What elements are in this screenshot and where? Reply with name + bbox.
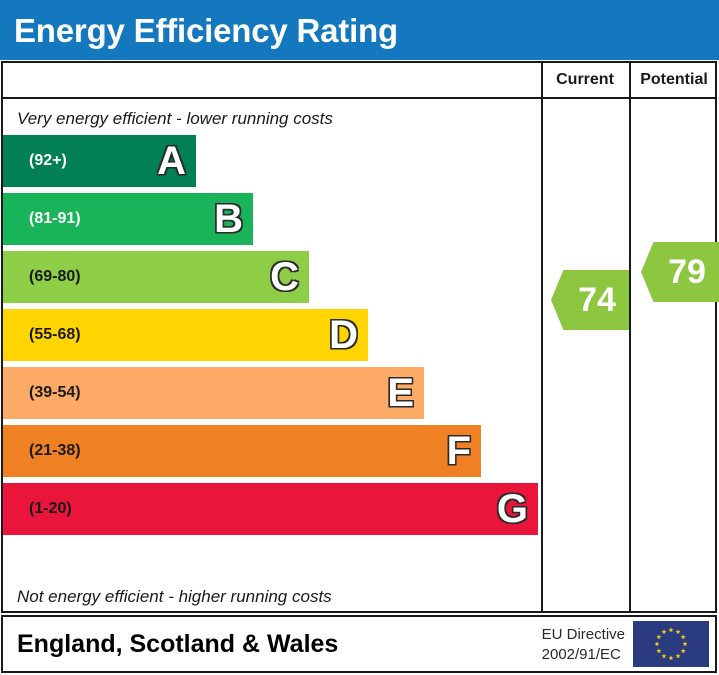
footer-region-label: England, Scotland & Wales — [3, 630, 338, 659]
rating-band-e: (39-54)E — [3, 367, 424, 419]
column-header-row: Current Potential — [3, 63, 715, 99]
current-rating-marker: 74 — [551, 270, 629, 330]
band-range-label: (39-54) — [29, 385, 81, 401]
column-divider-current — [541, 63, 543, 611]
band-range-label: (92+) — [29, 153, 67, 169]
rating-band-f: (21-38)F — [3, 425, 481, 477]
rating-bands: (92+)A(81-91)B(69-80)C(55-68)D(39-54)E(2… — [3, 135, 541, 541]
column-header-current: Current — [541, 63, 629, 97]
band-range-label: (55-68) — [29, 327, 81, 343]
page-title: Energy Efficiency Rating — [0, 14, 398, 47]
rating-band-row: (69-80)C — [3, 251, 541, 309]
band-letter-label: G — [497, 489, 528, 529]
rating-band-row: (39-54)E — [3, 367, 541, 425]
rating-band-d: (55-68)D — [3, 309, 368, 361]
potential-rating-value: 79 — [668, 253, 706, 292]
caption-not-efficient: Not energy efficient - higher running co… — [17, 587, 332, 607]
band-letter-label: C — [270, 257, 299, 297]
band-letter-label: A — [157, 141, 186, 181]
energy-efficiency-certificate: Energy Efficiency Rating Current Potenti… — [0, 0, 719, 675]
band-range-label: (81-91) — [29, 211, 81, 227]
band-letter-label: E — [387, 373, 414, 413]
rating-band-c: (69-80)C — [3, 251, 309, 303]
rating-band-a: (92+)A — [3, 135, 196, 187]
rating-band-b: (81-91)B — [3, 193, 253, 245]
eu-directive-line-1: EU Directive — [542, 625, 625, 645]
eu-directive-text: EU Directive 2002/91/EC — [542, 625, 625, 666]
band-letter-label: F — [447, 431, 471, 471]
chart-footer: England, Scotland & Wales EU Directive 2… — [1, 615, 717, 673]
column-header-potential: Potential — [631, 63, 717, 97]
rating-band-row: (92+)A — [3, 135, 541, 193]
rating-band-row: (55-68)D — [3, 309, 541, 367]
potential-rating-marker: 79 — [641, 242, 719, 302]
current-rating-value: 74 — [578, 281, 616, 320]
band-range-label: (1-20) — [29, 501, 72, 517]
rating-band-row: (21-38)F — [3, 425, 541, 483]
band-range-label: (69-80) — [29, 269, 81, 285]
rating-band-row: (81-91)B — [3, 193, 541, 251]
band-letter-label: B — [214, 199, 243, 239]
band-range-label: (21-38) — [29, 443, 81, 459]
chart-header: Energy Efficiency Rating — [0, 0, 719, 60]
caption-very-efficient: Very energy efficient - lower running co… — [17, 109, 333, 129]
rating-band-row: (1-20)G — [3, 483, 541, 541]
eu-directive-line-2: 2002/91/EC — [542, 645, 625, 665]
rating-table: Current Potential Very energy efficient … — [1, 61, 717, 613]
band-letter-label: D — [329, 315, 358, 355]
column-divider-potential — [629, 63, 631, 611]
rating-band-g: (1-20)G — [3, 483, 538, 535]
eu-flag-icon — [633, 621, 709, 667]
